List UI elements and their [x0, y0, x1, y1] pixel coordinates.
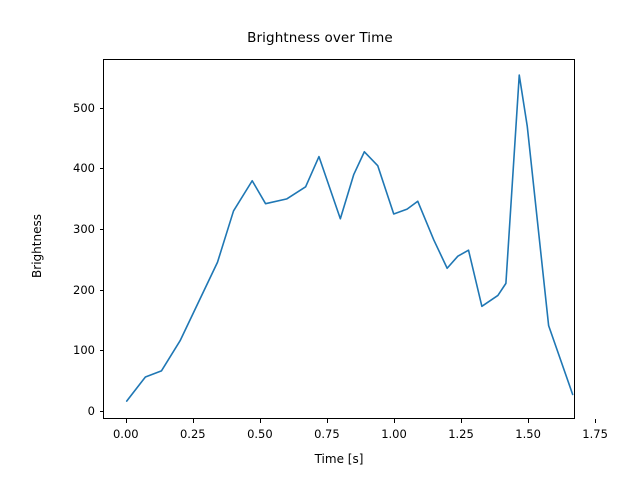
y-tick-label: 500 — [55, 101, 95, 115]
y-tick-mark — [100, 168, 104, 169]
data-line-series — [104, 60, 574, 418]
plot-area — [103, 59, 575, 419]
x-tick-label: 0.25 — [180, 427, 206, 441]
y-axis-label: Brightness — [30, 176, 44, 316]
x-tick-mark — [394, 419, 395, 423]
x-tick-label: 0.75 — [314, 427, 340, 441]
x-axis-label: Time [s] — [103, 452, 575, 466]
y-tick-label: 200 — [55, 283, 95, 297]
x-tick-mark — [260, 419, 261, 423]
x-tick-mark — [193, 419, 194, 423]
x-tick-label: 1.25 — [448, 427, 474, 441]
x-tick-label: 0.50 — [247, 427, 273, 441]
x-tick-label: 1.75 — [582, 427, 608, 441]
x-tick-label: 1.50 — [515, 427, 541, 441]
chart-figure: Brightness over Time Brightness Time [s]… — [0, 0, 640, 480]
x-tick-mark — [595, 419, 596, 423]
x-tick-mark — [327, 419, 328, 423]
y-tick-mark — [100, 350, 104, 351]
y-tick-mark — [100, 229, 104, 230]
y-tick-label: 300 — [55, 222, 95, 236]
y-tick-mark — [100, 290, 104, 291]
x-tick-mark — [461, 419, 462, 423]
y-tick-label: 100 — [55, 343, 95, 357]
y-tick-label: 400 — [55, 161, 95, 175]
x-tick-label: 0.00 — [113, 427, 139, 441]
y-tick-label: 0 — [55, 404, 95, 418]
chart-title: Brightness over Time — [0, 30, 640, 46]
x-tick-mark — [126, 419, 127, 423]
y-tick-mark — [100, 108, 104, 109]
x-tick-mark — [528, 419, 529, 423]
y-tick-mark — [100, 411, 104, 412]
x-tick-label: 1.00 — [381, 427, 407, 441]
